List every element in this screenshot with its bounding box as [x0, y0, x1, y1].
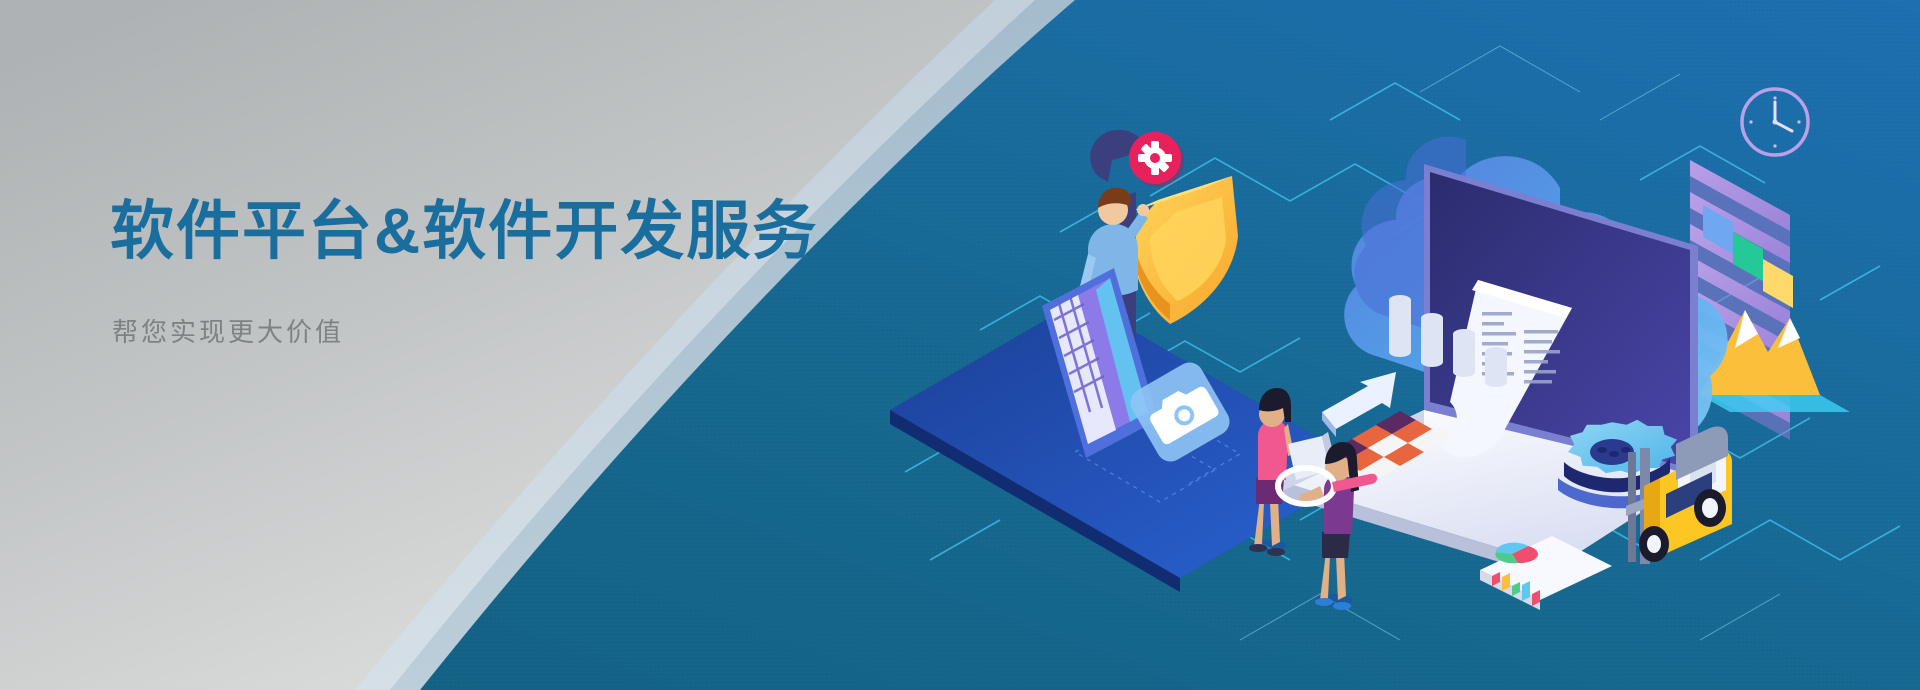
- shield-icon: [1130, 176, 1238, 324]
- code-lines: [1452, 678, 1636, 690]
- clock-icon: [1742, 89, 1808, 155]
- hero-banner: 软件平台&软件开发服务 帮您实现更大价值: [0, 0, 1920, 690]
- page-subtitle: 帮您实现更大价值: [112, 316, 870, 350]
- banner-text-block: 软件平台&软件开发服务 帮您实现更大价值: [110, 196, 870, 349]
- page-title: 软件平台&软件开发服务: [110, 196, 870, 268]
- gear-badge-icon: [1129, 132, 1184, 187]
